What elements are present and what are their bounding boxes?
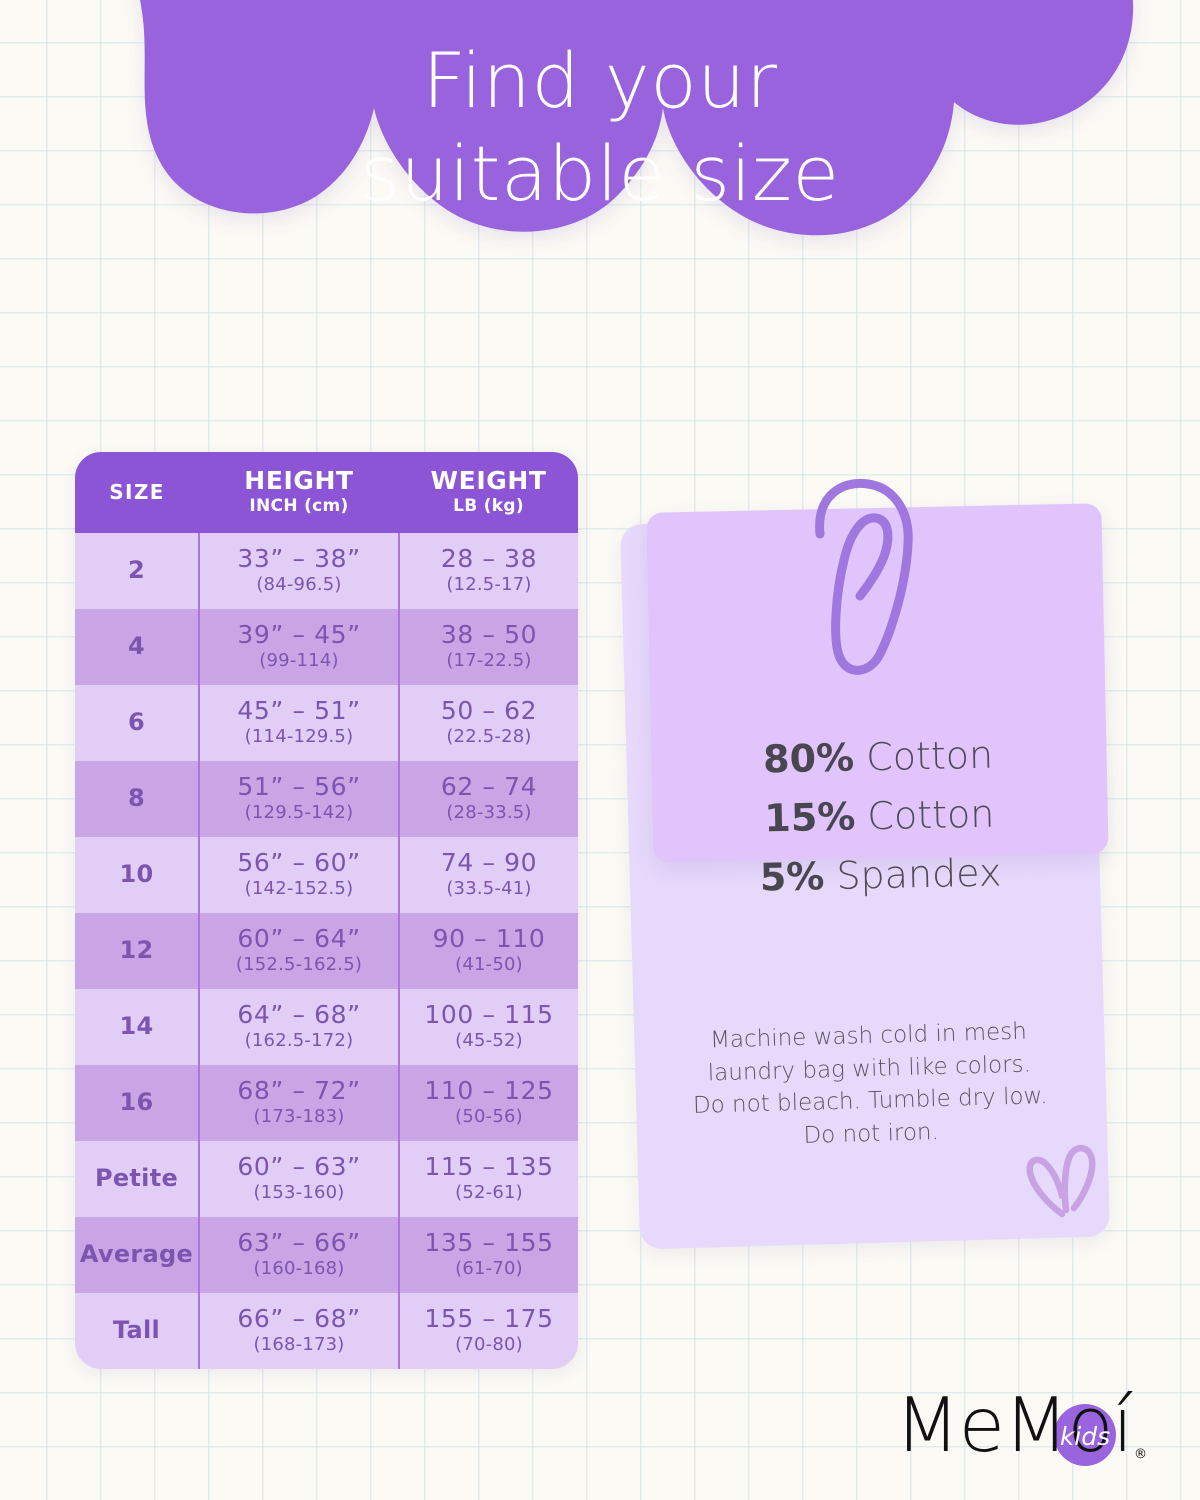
cell-height: 51” – 56” (129.5-142) bbox=[199, 761, 399, 837]
table-row: 4 39” – 45” (99-114) 38 – 50 (17-22.5) bbox=[75, 609, 578, 685]
cell-height: 66” – 68” (168-173) bbox=[199, 1293, 399, 1369]
care-instructions: Machine wash cold in mesh laundry bag wi… bbox=[648, 1014, 1091, 1157]
composition-pct: 5% bbox=[759, 854, 824, 899]
cell-height-cm: (152.5-162.5) bbox=[204, 954, 394, 975]
size-chart-table: SIZE HEIGHT INCH (cm) WEIGHT LB (kg) 2 bbox=[75, 452, 578, 1369]
table-body: 2 33” – 38” (84-96.5) 28 – 38 (12.5-17) … bbox=[75, 533, 578, 1369]
cell-weight: 110 – 125 (50-56) bbox=[399, 1065, 578, 1141]
size-guide-page: Find your suitable size SIZE HEIGHT INCH… bbox=[0, 0, 1200, 1500]
cell-height-cm: (129.5-142) bbox=[204, 802, 394, 823]
trademark-symbol: ® bbox=[1134, 1447, 1147, 1462]
cell-weight: 74 – 90 (33.5-41) bbox=[399, 837, 578, 913]
cell-height: 60” – 63” (153-160) bbox=[199, 1141, 399, 1217]
cell-size: 6 bbox=[75, 685, 199, 761]
column-header-size-label: SIZE bbox=[79, 482, 195, 503]
cell-weight-kg: (70-80) bbox=[404, 1334, 574, 1355]
cell-size: 12 bbox=[75, 913, 199, 989]
column-header-height-label: HEIGHT bbox=[203, 468, 395, 494]
cell-weight: 62 – 74 (28-33.5) bbox=[399, 761, 578, 837]
cell-height-cm: (99-114) bbox=[204, 650, 394, 671]
column-header-weight: WEIGHT LB (kg) bbox=[399, 452, 578, 533]
cell-size: Tall bbox=[75, 1293, 199, 1369]
table-row: 10 56” – 60” (142-152.5) 74 – 90 (33.5-4… bbox=[75, 837, 578, 913]
cell-size: Petite bbox=[75, 1141, 199, 1217]
cell-height-cm: (168-173) bbox=[204, 1334, 394, 1355]
cell-size: 10 bbox=[75, 837, 199, 913]
table-row: 14 64” – 68” (162.5-172) 100 – 115 (45-5… bbox=[75, 989, 578, 1065]
fabric-composition: 80% Cotton 15% Cotton 5% Spandex bbox=[650, 723, 1109, 909]
cell-weight-lb: 155 – 175 bbox=[404, 1305, 574, 1333]
column-header-size: SIZE bbox=[75, 452, 199, 533]
cell-weight-lb: 100 – 115 bbox=[404, 1001, 574, 1029]
cell-height-inch: 33” – 38” bbox=[204, 545, 394, 573]
table-row: 16 68” – 72” (173-183) 110 – 125 (50-56) bbox=[75, 1065, 578, 1141]
cell-height-cm: (153-160) bbox=[204, 1182, 394, 1203]
composition-line: 80% Cotton bbox=[650, 723, 1106, 791]
composition-material: Spandex bbox=[824, 850, 1002, 898]
composition-line: 5% Spandex bbox=[653, 841, 1109, 909]
table-row: Average 63” – 66” (160-168) 135 – 155 (6… bbox=[75, 1217, 578, 1293]
cell-weight-lb: 110 – 125 bbox=[404, 1077, 574, 1105]
composition-pct: 80% bbox=[763, 736, 855, 782]
cell-weight-lb: 135 – 155 bbox=[404, 1229, 574, 1257]
cell-height: 33” – 38” (84-96.5) bbox=[199, 533, 399, 609]
paperclip-icon bbox=[796, 472, 926, 682]
cell-height-inch: 66” – 68” bbox=[204, 1305, 394, 1333]
composition-material: Cotton bbox=[855, 791, 995, 838]
cell-weight-lb: 38 – 50 bbox=[404, 621, 574, 649]
cell-weight-lb: 115 – 135 bbox=[404, 1153, 574, 1181]
cell-weight-kg: (28-33.5) bbox=[404, 802, 574, 823]
table-row: Petite 60” – 63” (153-160) 115 – 135 (52… bbox=[75, 1141, 578, 1217]
cell-weight-kg: (45-52) bbox=[404, 1030, 574, 1051]
memoi-kids-logo: MeMoí kids ® bbox=[895, 1383, 1155, 1475]
cell-height: 63” – 66” (160-168) bbox=[199, 1217, 399, 1293]
composition-pct: 15% bbox=[764, 794, 856, 840]
cell-weight-lb: 90 – 110 bbox=[404, 925, 574, 953]
column-header-height-unit: INCH (cm) bbox=[203, 496, 395, 516]
cell-height: 64” – 68” (162.5-172) bbox=[199, 989, 399, 1065]
table-header-row: SIZE HEIGHT INCH (cm) WEIGHT LB (kg) bbox=[75, 452, 578, 533]
column-header-weight-label: WEIGHT bbox=[403, 468, 574, 494]
cell-weight: 50 – 62 (22.5-28) bbox=[399, 685, 578, 761]
cell-height-inch: 39” – 45” bbox=[204, 621, 394, 649]
cell-weight-kg: (61-70) bbox=[404, 1258, 574, 1279]
cell-weight-lb: 28 – 38 bbox=[404, 545, 574, 573]
cell-height-inch: 51” – 56” bbox=[204, 773, 394, 801]
cell-weight: 100 – 115 (45-52) bbox=[399, 989, 578, 1065]
cell-height: 45” – 51” (114-129.5) bbox=[199, 685, 399, 761]
cell-height-cm: (84-96.5) bbox=[204, 574, 394, 595]
heart-doodle-icon bbox=[1022, 1138, 1112, 1228]
table-row: 12 60” – 64” (152.5-162.5) 90 – 110 (41-… bbox=[75, 913, 578, 989]
cell-weight: 90 – 110 (41-50) bbox=[399, 913, 578, 989]
composition-material: Cotton bbox=[854, 733, 994, 780]
cell-height-inch: 68” – 72” bbox=[204, 1077, 394, 1105]
cell-height-inch: 56” – 60” bbox=[204, 849, 394, 877]
cell-weight-lb: 50 – 62 bbox=[404, 697, 574, 725]
cell-height-cm: (114-129.5) bbox=[204, 726, 394, 747]
cell-size: 16 bbox=[75, 1065, 199, 1141]
cell-weight-kg: (22.5-28) bbox=[404, 726, 574, 747]
cell-size: 14 bbox=[75, 989, 199, 1065]
table-row: 8 51” – 56” (129.5-142) 62 – 74 (28-33.5… bbox=[75, 761, 578, 837]
cell-height-cm: (160-168) bbox=[204, 1258, 394, 1279]
cell-size: 2 bbox=[75, 533, 199, 609]
cell-size: 8 bbox=[75, 761, 199, 837]
cell-weight-kg: (17-22.5) bbox=[404, 650, 574, 671]
table-row: 6 45” – 51” (114-129.5) 50 – 62 (22.5-28… bbox=[75, 685, 578, 761]
cell-weight-kg: (52-61) bbox=[404, 1182, 574, 1203]
cell-weight: 155 – 175 (70-80) bbox=[399, 1293, 578, 1369]
cell-weight-kg: (50-56) bbox=[404, 1106, 574, 1127]
kids-badge-label: kids bbox=[1060, 1422, 1110, 1451]
cell-height-cm: (173-183) bbox=[204, 1106, 394, 1127]
page-title: Find your suitable size bbox=[0, 35, 1200, 220]
column-header-weight-unit: LB (kg) bbox=[403, 496, 574, 516]
composition-line: 15% Cotton bbox=[651, 782, 1107, 850]
cell-height-cm: (162.5-172) bbox=[204, 1030, 394, 1051]
cell-height: 68” – 72” (173-183) bbox=[199, 1065, 399, 1141]
note-cards-group: 80% Cotton 15% Cotton 5% Spandex Machine… bbox=[618, 500, 1128, 1280]
cell-height-inch: 60” – 64” bbox=[204, 925, 394, 953]
cell-weight-lb: 62 – 74 bbox=[404, 773, 574, 801]
cell-height-inch: 45” – 51” bbox=[204, 697, 394, 725]
cell-height-inch: 64” – 68” bbox=[204, 1001, 394, 1029]
table-row: Tall 66” – 68” (168-173) 155 – 175 (70-8… bbox=[75, 1293, 578, 1369]
cell-height: 39” – 45” (99-114) bbox=[199, 609, 399, 685]
cell-weight: 38 – 50 (17-22.5) bbox=[399, 609, 578, 685]
column-header-height: HEIGHT INCH (cm) bbox=[199, 452, 399, 533]
cell-height: 56” – 60” (142-152.5) bbox=[199, 837, 399, 913]
cell-height-cm: (142-152.5) bbox=[204, 878, 394, 899]
cell-weight: 135 – 155 (61-70) bbox=[399, 1217, 578, 1293]
cell-weight-kg: (33.5-41) bbox=[404, 878, 574, 899]
cell-weight-kg: (12.5-17) bbox=[404, 574, 574, 595]
cell-weight-kg: (41-50) bbox=[404, 954, 574, 975]
cell-height: 60” – 64” (152.5-162.5) bbox=[199, 913, 399, 989]
cell-size: 4 bbox=[75, 609, 199, 685]
cell-weight-lb: 74 – 90 bbox=[404, 849, 574, 877]
table-row: 2 33” – 38” (84-96.5) 28 – 38 (12.5-17) bbox=[75, 533, 578, 609]
cell-size: Average bbox=[75, 1217, 199, 1293]
cell-height-inch: 60” – 63” bbox=[204, 1153, 394, 1181]
cell-height-inch: 63” – 66” bbox=[204, 1229, 394, 1257]
cell-weight: 28 – 38 (12.5-17) bbox=[399, 533, 578, 609]
cell-weight: 115 – 135 (52-61) bbox=[399, 1141, 578, 1217]
